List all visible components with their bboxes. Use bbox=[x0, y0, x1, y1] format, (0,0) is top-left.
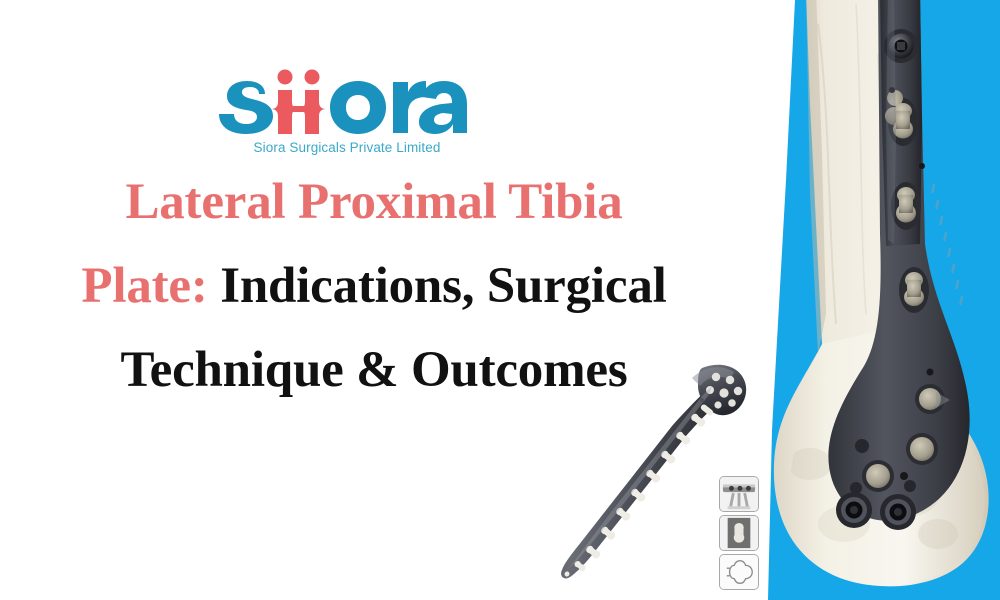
hole-outline-thumbnail[interactable] bbox=[719, 554, 759, 590]
drill-guide-icon bbox=[720, 477, 758, 511]
banner-canvas: Siora Surgicals Private Limited Lateral … bbox=[0, 0, 1000, 600]
tibia-bone-with-plate-image bbox=[770, 0, 1000, 600]
title-line-1-text: Lateral Proximal Tibia bbox=[125, 174, 622, 230]
thumbnail-strip bbox=[719, 476, 759, 593]
title-line-1: Lateral Proximal Tibia bbox=[0, 160, 748, 244]
logo-letter-a bbox=[419, 81, 467, 134]
combi-hole-thumbnail[interactable] bbox=[719, 515, 759, 551]
logo-tagline: Siora Surgicals Private Limited bbox=[227, 140, 467, 155]
title-line-2: Plate: Indications, Surgical bbox=[0, 244, 748, 328]
title-line-2-rest: Indications, Surgical bbox=[220, 258, 666, 314]
logo-bone-glyph bbox=[271, 70, 326, 135]
title-line-3-text: Technique & Outcomes bbox=[121, 342, 628, 398]
title-line-3: Technique & Outcomes bbox=[0, 328, 748, 412]
page-title: Lateral Proximal Tibia Plate: Indication… bbox=[0, 160, 748, 412]
siora-logo-mark bbox=[213, 68, 473, 140]
logo-letter-o bbox=[330, 81, 386, 134]
logo-letter-s bbox=[219, 81, 273, 134]
title-line-2-accent: Plate: bbox=[81, 258, 207, 314]
drill-guide-thumbnail[interactable] bbox=[719, 476, 759, 512]
loose-plate-highlight bbox=[569, 386, 712, 568]
siora-logo[interactable]: Siora Surgicals Private Limited bbox=[213, 68, 473, 168]
hole-outline-icon bbox=[720, 555, 758, 589]
combi-hole-icon bbox=[720, 516, 758, 550]
